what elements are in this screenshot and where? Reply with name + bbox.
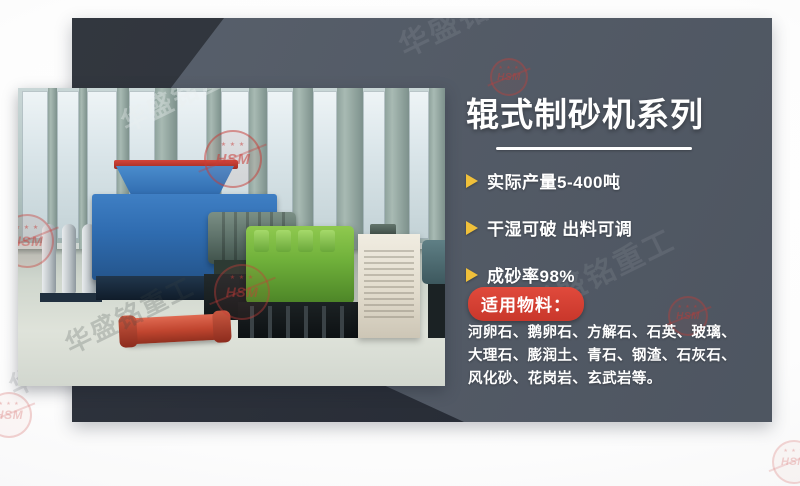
materials-badge: 适用物料： bbox=[468, 287, 584, 321]
arrow-bullet-icon bbox=[466, 174, 478, 188]
feature-text: 干湿可破 出料可调 bbox=[487, 215, 632, 240]
feature-item: 成砂率98% bbox=[466, 262, 766, 287]
product-title: 辊式制砂机系列 bbox=[466, 88, 752, 136]
materials-text: 河卵石、鹅卵石、方解石、石英、玻璃、大理石、膨润土、青石、钢渣、石灰石、风化砂、… bbox=[468, 322, 750, 391]
feature-text: 实际产量5-400吨 bbox=[487, 168, 620, 193]
arrow-bullet-icon bbox=[466, 221, 478, 235]
photo-secondary-motor-base bbox=[428, 284, 445, 338]
product-photo: 华盛铭重工 华盛铭重工 ★ ★ ★ HSM ★ ★ ★ HSM ★ ★ ★ HS… bbox=[18, 88, 445, 386]
page-canvas: 华盛铭重工 ★ ★ ★ HSM ★ ★ ★ HSM 华盛铭重工 华盛铭重工 ★ … bbox=[0, 0, 800, 486]
photo-control-cabinet bbox=[358, 234, 420, 338]
feature-text: 成砂率98% bbox=[487, 262, 575, 287]
arrow-bullet-icon bbox=[466, 268, 478, 282]
feature-item: 干湿可破 出料可调 bbox=[466, 215, 766, 240]
photo-secondary-motor bbox=[422, 240, 445, 284]
photo-universal-drive-shaft bbox=[122, 313, 227, 344]
panel-content: 辊式制砂机系列 实际产量5-400吨 干湿可破 出料可调 成砂率98% 适用物料… bbox=[466, 0, 766, 404]
photo-gearbox-base bbox=[238, 302, 362, 338]
title-divider bbox=[496, 147, 692, 150]
feature-item: 实际产量5-400吨 bbox=[466, 168, 766, 193]
photo-gearbox bbox=[246, 226, 354, 304]
